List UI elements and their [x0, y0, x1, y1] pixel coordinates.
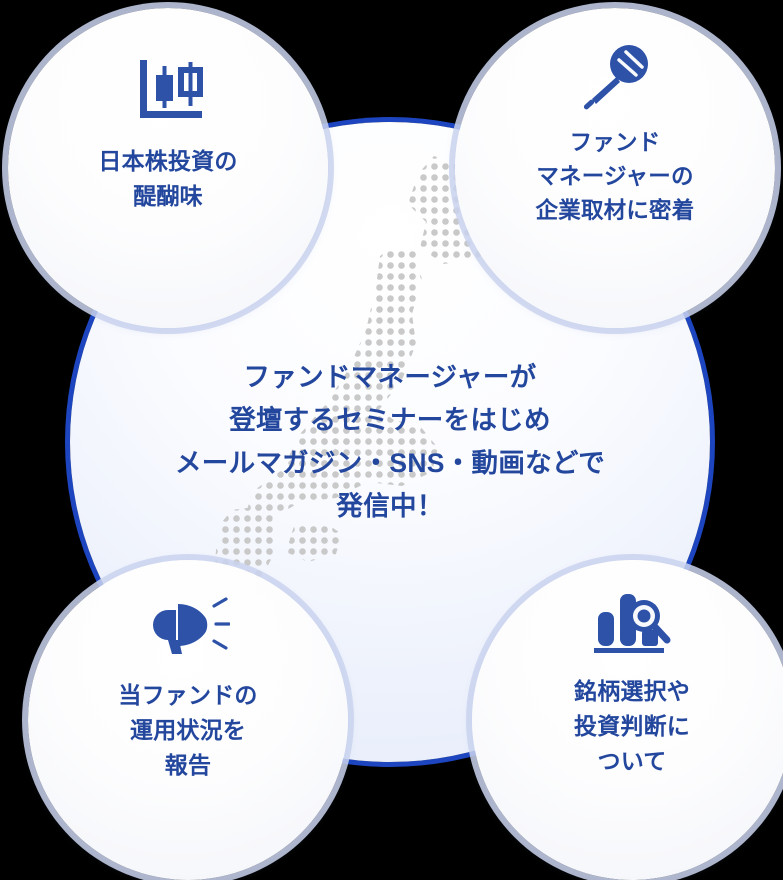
label-line-1: 当ファンドの	[43, 678, 333, 713]
label-line-2: 投資判断に	[487, 709, 777, 744]
center-line-3: メールマガジン・SNS・動画などで	[175, 442, 605, 485]
label-line-2: 運用状況を	[43, 713, 333, 748]
center-line-2: 登壇するセミナーをはじめ	[229, 399, 551, 442]
megaphone-icon	[146, 592, 230, 658]
center-line-1: ファンドマネージャーが	[244, 356, 537, 399]
label-line-2: マネージャーの	[470, 160, 760, 194]
label-line-2: 醍醐味	[23, 179, 313, 214]
satellite-card-top-right[interactable]: ファンド マネージャーの 企業取材に密着	[455, 8, 775, 328]
microphone-icon	[579, 46, 651, 112]
satellite-label-top-left: 日本株投資の 醍醐味	[23, 144, 313, 214]
label-line-1: 日本株投資の	[23, 144, 313, 179]
satellite-label-top-right: ファンド マネージャーの 企業取材に密着	[470, 126, 760, 229]
satellite-label-bottom-right: 銘柄選択や 投資判断に ついて	[487, 674, 777, 779]
satellite-card-bottom-left[interactable]: 当ファンドの 運用状況を 報告	[28, 560, 348, 880]
candlestick-chart-icon	[132, 60, 204, 126]
infographic-stage: ファンドマネージャーが 登壇するセミナーをはじめ メールマガジン・SNS・動画な…	[0, 0, 783, 880]
label-line-3: ついて	[487, 744, 777, 779]
satellite-card-bottom-right[interactable]: 銘柄選択や 投資判断に ついて	[472, 560, 783, 880]
center-line-4: 発信中！	[336, 485, 443, 528]
satellite-label-bottom-left: 当ファンドの 運用状況を 報告	[43, 678, 333, 783]
satellite-card-top-left[interactable]: 日本株投資の 醍醐味	[8, 8, 328, 328]
label-line-3: 企業取材に密着	[470, 194, 760, 228]
label-line-1: ファンド	[470, 126, 760, 160]
label-line-1: 銘柄選択や	[487, 674, 777, 709]
bar-chart-search-icon	[592, 590, 672, 656]
label-line-3: 報告	[43, 748, 333, 783]
